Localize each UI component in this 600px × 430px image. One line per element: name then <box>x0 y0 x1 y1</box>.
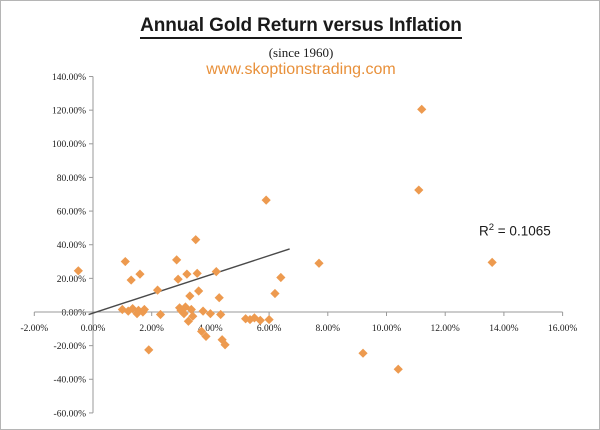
trend-line <box>89 249 290 315</box>
scatter-point <box>212 267 221 276</box>
scatter-point <box>262 196 271 205</box>
scatter-point <box>276 273 285 282</box>
x-axis: -2.00%0.00%2.00%4.00%6.00%8.00%10.00%12.… <box>20 312 577 338</box>
y-axis-tick-label: 40.00% <box>57 241 86 251</box>
x-axis-tick-label: -2.00% <box>20 324 48 334</box>
y-axis-tick-label: 80.00% <box>57 174 86 184</box>
y-axis-tick-label: 140.00% <box>52 73 86 83</box>
x-axis-tick-label: 6.00% <box>257 324 282 334</box>
y-axis: -60.00%-40.00%-20.00%0.00%20.00%40.00%60… <box>52 73 93 419</box>
plot-area: -60.00%-40.00%-20.00%0.00%20.00%40.00%60… <box>1 1 600 430</box>
scatter-point <box>206 309 215 318</box>
scatter-plot-svg: -60.00%-40.00%-20.00%0.00%20.00%40.00%60… <box>1 1 600 430</box>
scatter-point <box>215 293 224 302</box>
y-axis-tick-label: -60.00% <box>54 409 87 419</box>
scatter-point <box>198 307 207 316</box>
scatter-point <box>135 270 144 279</box>
scatter-point <box>174 275 183 284</box>
y-axis-tick-label: 60.00% <box>57 207 86 217</box>
y-axis-tick-label: 0.00% <box>61 308 86 318</box>
x-axis-tick-label: 14.00% <box>489 324 518 334</box>
scatter-point <box>314 259 323 268</box>
y-axis-tick-label: 120.00% <box>52 107 86 117</box>
y-axis-tick-label: 20.00% <box>57 275 86 285</box>
y-axis-tick-label: 100.00% <box>52 140 86 150</box>
x-axis-tick-label: 2.00% <box>139 324 164 334</box>
scatter-point <box>265 315 274 324</box>
y-axis-tick-label: -40.00% <box>54 376 87 386</box>
x-axis-tick-label: 10.00% <box>372 324 401 334</box>
x-axis-tick-label: 12.00% <box>431 324 460 334</box>
scatter-point <box>191 235 200 244</box>
scatter-point <box>216 310 225 319</box>
scatter-point <box>156 310 165 319</box>
scatter-point <box>172 255 181 264</box>
scatter-point <box>144 345 153 354</box>
scatter-point <box>185 291 194 300</box>
scatter-point <box>394 365 403 374</box>
x-axis-tick-label: 8.00% <box>316 324 341 334</box>
scatter-point <box>417 105 426 114</box>
scatter-point <box>193 269 202 278</box>
scatter-point <box>414 185 423 194</box>
scatter-point <box>182 270 191 279</box>
y-axis-tick-label: -20.00% <box>54 342 87 352</box>
x-axis-tick-label: 16.00% <box>548 324 577 334</box>
r-squared-annotation: R2 = 0.1065 <box>479 222 551 239</box>
scatter-point <box>127 275 136 284</box>
scatter-point <box>488 258 497 267</box>
scatter-point <box>270 289 279 298</box>
scatter-point <box>121 257 130 266</box>
chart-screenshot: Annual Gold Return versus Inflation (sin… <box>0 0 600 430</box>
scatter-point <box>194 286 203 295</box>
scatter-point <box>358 349 367 358</box>
